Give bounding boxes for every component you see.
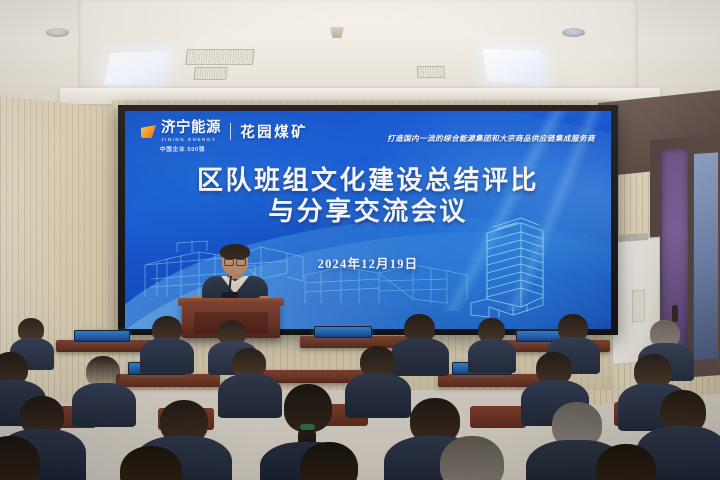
desk-monitor-2 (314, 326, 372, 338)
hair-tie (300, 424, 315, 430)
company-name-cn: 济宁能源 (161, 121, 221, 136)
company-name-en: JINING ENERGY (161, 138, 221, 143)
desk-monitor-1 (74, 330, 130, 342)
conference-room-photo: 济宁能源 JINING ENERGY 花园煤矿 中国企业 500强 打造国内一流… (0, 0, 720, 480)
brand-divider (230, 123, 231, 140)
ceiling-speaker-right (562, 28, 585, 37)
subsidiary-name: 花园煤矿 (240, 121, 308, 142)
presenter-hair (220, 244, 250, 259)
hvac-vent-1 (185, 49, 255, 65)
seated-audience (0, 318, 720, 480)
presenter-glasses (224, 258, 246, 263)
brand-name-block: 济宁能源 JINING ENERGY (161, 121, 221, 142)
desk-row2-left (116, 374, 220, 387)
led-panel-light-right (483, 49, 545, 83)
slide-title-line2: 与分享交流会议 (125, 196, 611, 227)
enterprise-500-badge: 中国企业 500强 (160, 145, 597, 153)
chair-back-4 (470, 406, 526, 428)
slide-tagline: 打造国内一流的综合能源集团和大宗商品供应链集成服务商 (387, 133, 595, 144)
hvac-vent-3 (417, 66, 446, 78)
ceiling-speaker-left (46, 28, 69, 37)
slide-title-line1: 区队班组文化建设总结评比 (125, 165, 611, 196)
hvac-vent-2 (193, 67, 227, 80)
slide-header: 济宁能源 JINING ENERGY 花园煤矿 中国企业 500强 打造国内一流… (141, 121, 597, 157)
jining-energy-logo-icon (141, 125, 156, 138)
led-panel-light-left (104, 51, 168, 85)
slide-title: 区队班组文化建设总结评比 与分享交流会议 (125, 165, 611, 227)
